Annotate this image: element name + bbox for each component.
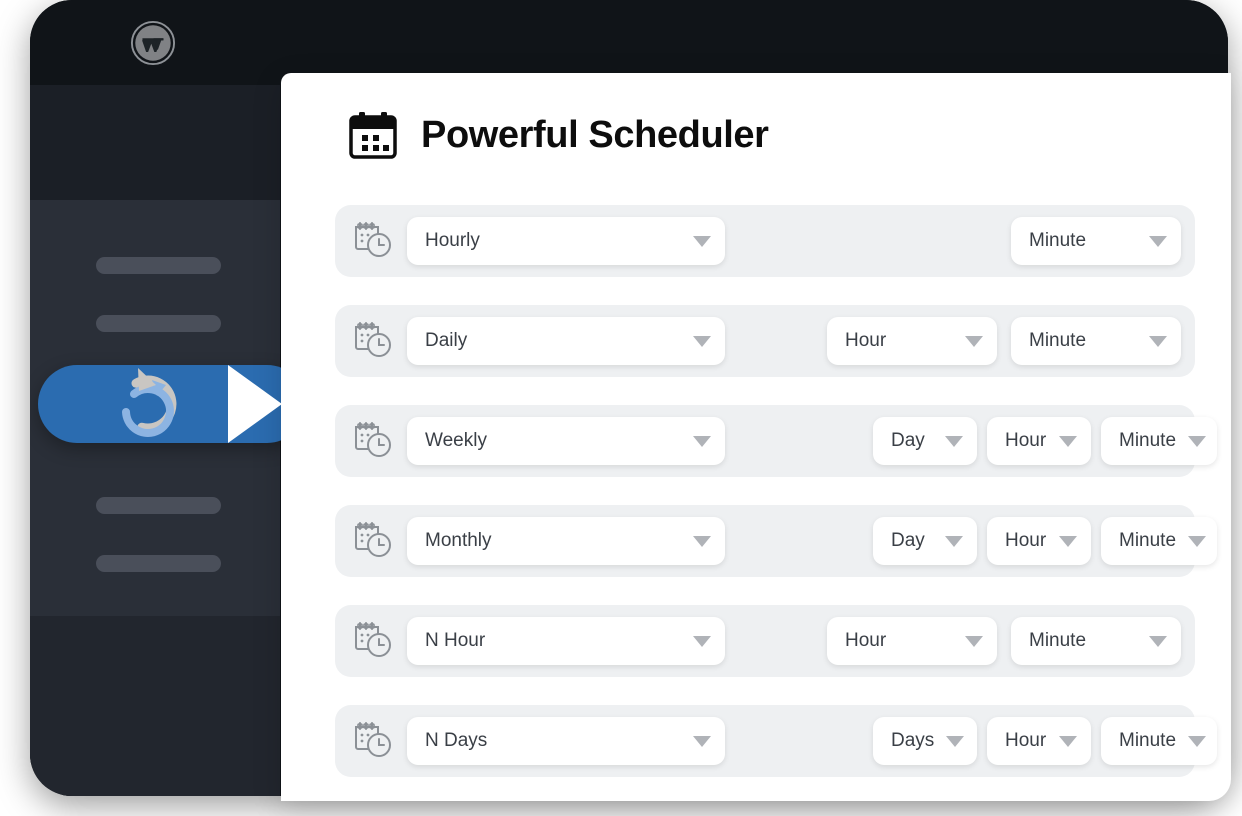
time-field-group: Day Hour Minute: [873, 517, 1217, 565]
minute-select[interactable]: Minute: [1101, 417, 1217, 465]
hour-select[interactable]: Hour: [987, 417, 1091, 465]
days-select[interactable]: Days: [873, 717, 977, 765]
chevron-down-icon: [965, 636, 983, 647]
chevron-down-icon: [693, 336, 711, 347]
sidebar-section-bottom: [30, 616, 280, 796]
day-select[interactable]: Day: [873, 517, 977, 565]
chevron-down-icon: [1149, 636, 1167, 647]
chevron-down-icon: [946, 736, 964, 747]
chevron-down-icon: [1149, 236, 1167, 247]
time-field-group: Minute: [1011, 217, 1195, 265]
chevron-down-icon: [1059, 536, 1077, 547]
time-field-group: Day Hour Minute: [873, 417, 1217, 465]
scheduler-panel: Powerful Scheduler: [281, 73, 1231, 801]
sidebar-item-placeholder-1[interactable]: [96, 257, 221, 274]
calendar-clock-icon: [349, 518, 395, 564]
page-title: Powerful Scheduler: [421, 114, 769, 157]
frequency-select[interactable]: N Hour: [407, 617, 725, 665]
calendar-clock-icon: [349, 418, 395, 464]
time-field-group: Hour Minute: [827, 617, 1195, 665]
scheduler-row: Weekly Day Hour Minute: [335, 405, 1195, 477]
chevron-down-icon: [693, 536, 711, 547]
hour-select[interactable]: Hour: [987, 517, 1091, 565]
sidebar-section-top: [30, 85, 280, 200]
calendar-clock-icon: [349, 218, 395, 264]
chevron-down-icon: [693, 236, 711, 247]
chevron-down-icon: [1188, 736, 1206, 747]
minute-select[interactable]: Minute: [1101, 517, 1217, 565]
scheduler-rows: Hourly Minute: [335, 205, 1195, 777]
hour-select[interactable]: Hour: [827, 317, 997, 365]
refresh-cursor-icon[interactable]: [96, 352, 200, 456]
panel-header: Powerful Scheduler: [347, 109, 769, 161]
time-field-group: Hour Minute: [827, 317, 1195, 365]
chevron-down-icon: [693, 436, 711, 447]
hour-select[interactable]: Hour: [827, 617, 997, 665]
wordpress-logo[interactable]: [130, 20, 176, 66]
chevron-down-icon: [1059, 436, 1077, 447]
minute-select[interactable]: Minute: [1011, 617, 1181, 665]
chevron-down-icon: [965, 336, 983, 347]
chevron-down-icon: [945, 536, 963, 547]
scheduler-row: N Hour Hour Minute: [335, 605, 1195, 677]
panel-pointer-notch: [228, 365, 282, 443]
calendar-icon: [347, 109, 399, 161]
minute-select[interactable]: Minute: [1101, 717, 1217, 765]
frequency-select[interactable]: Hourly: [407, 217, 725, 265]
scheduler-row: Monthly Day Hour Minute: [335, 505, 1195, 577]
scheduler-row: Hourly Minute: [335, 205, 1195, 277]
scheduler-row: Daily Hour Minute: [335, 305, 1195, 377]
calendar-clock-icon: [349, 718, 395, 764]
chevron-down-icon: [1188, 536, 1206, 547]
day-select[interactable]: Day: [873, 417, 977, 465]
time-field-group: Days Hour Minute: [873, 717, 1217, 765]
screenshot-stage: Powerful Scheduler: [0, 0, 1242, 816]
minute-select[interactable]: Minute: [1011, 217, 1181, 265]
sidebar-item-placeholder-4[interactable]: [96, 555, 221, 572]
frequency-select[interactable]: Weekly: [407, 417, 725, 465]
chevron-down-icon: [945, 436, 963, 447]
calendar-clock-icon: [349, 318, 395, 364]
calendar-clock-icon: [349, 618, 395, 664]
chevron-down-icon: [1188, 436, 1206, 447]
sidebar-item-placeholder-3[interactable]: [96, 497, 221, 514]
scheduler-row: N Days Days Hour Minute: [335, 705, 1195, 777]
minute-select[interactable]: Minute: [1011, 317, 1181, 365]
frequency-select[interactable]: Monthly: [407, 517, 725, 565]
frequency-select[interactable]: N Days: [407, 717, 725, 765]
chevron-down-icon: [693, 736, 711, 747]
hour-select[interactable]: Hour: [987, 717, 1091, 765]
frequency-select[interactable]: Daily: [407, 317, 725, 365]
chevron-down-icon: [1149, 336, 1167, 347]
sidebar-item-placeholder-2[interactable]: [96, 315, 221, 332]
chevron-down-icon: [693, 636, 711, 647]
chevron-down-icon: [1059, 736, 1077, 747]
